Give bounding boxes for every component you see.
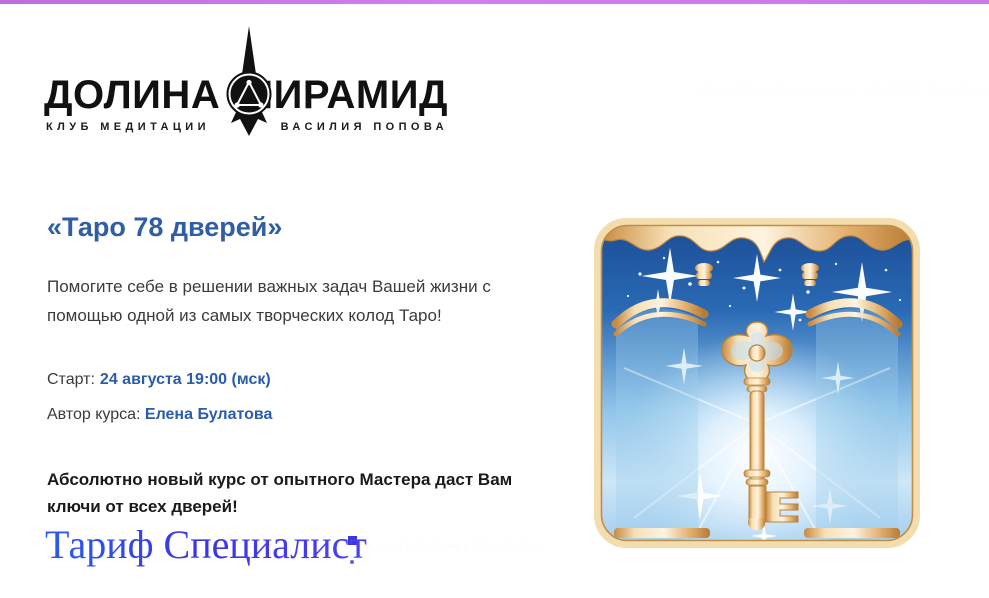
page-title: «Таро 78 дверей» — [47, 210, 282, 244]
email-banner-page: ДОЛИНА ПИРАМИД КЛУБ МЕДИТАЦИИ ВАСИЛИЯ ПО… — [0, 0, 989, 598]
start-date-row: Старт:24 августа 19:00 (мск) — [47, 368, 271, 392]
watermark-terms: в соответствии с Условиями — [366, 538, 542, 553]
tariff-heading: Тариф Специалист — [45, 521, 367, 569]
golden-gates-with-key-illustration — [594, 218, 920, 548]
watermark-contact: admin@vasilypopov.ru / +7 (800) 250-88-1… — [694, 82, 989, 99]
author-value: Елена Булатова — [145, 406, 273, 423]
brand-tagline-right: ВАСИЛИЯ ПОПОВА — [281, 120, 448, 134]
brand-word-left: ДОЛИНА — [44, 72, 220, 118]
start-date-value: 24 августа 19:00 (мск) — [100, 371, 271, 388]
top-accent-rule — [0, 0, 989, 4]
pyramid-obelisk-triangle-icon — [220, 26, 278, 136]
author-label: Автор курса: — [47, 406, 140, 423]
brand-tagline-left: КЛУБ МЕДИТАЦИИ — [46, 120, 210, 134]
punchline-text: Абсолютно новый курс от опытного Мастера… — [47, 466, 547, 520]
start-date-label: Старт: — [47, 371, 95, 388]
lede-paragraph: Помогите себе в решении важных задач Ваш… — [47, 272, 507, 330]
brand-logo: ДОЛИНА ПИРАМИД КЛУБ МЕДИТАЦИИ ВАСИЛИЯ ПО… — [44, 26, 448, 136]
author-row: Автор курса: Елена Булатова — [47, 403, 272, 427]
